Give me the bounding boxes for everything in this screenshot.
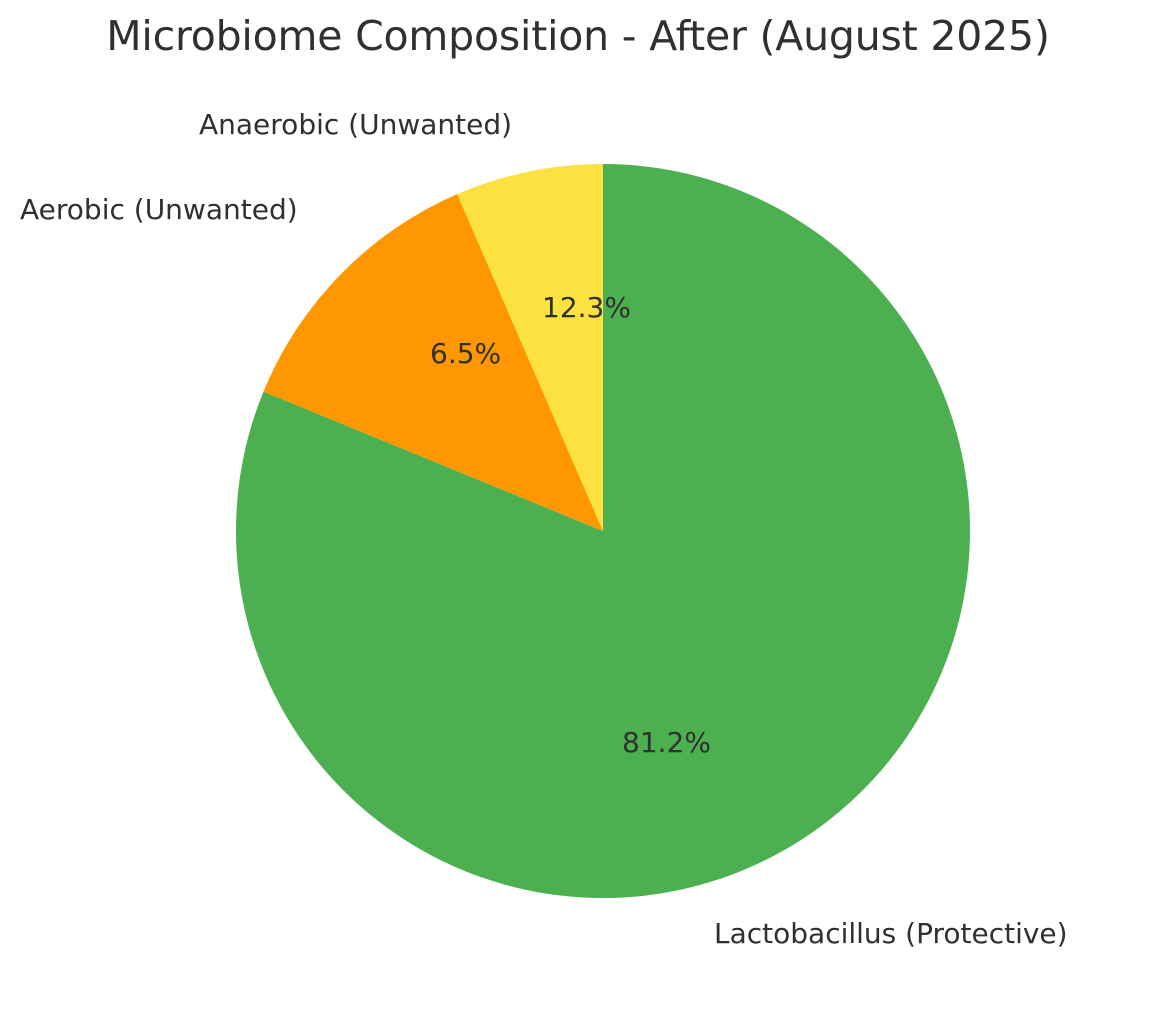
slice-label-aerobic: Aerobic (Unwanted): [20, 193, 298, 226]
slice-percent-lactobacillus: 81.2%: [622, 726, 711, 759]
slice-percent-anaerobic: 12.3%: [542, 291, 631, 324]
chart-canvas: Microbiome Composition - After (August 2…: [0, 0, 1156, 1014]
slice-label-lactobacillus: Lactobacillus (Protective): [714, 917, 1068, 950]
pie-chart-svg: [0, 0, 1156, 1014]
slice-label-anaerobic: Anaerobic (Unwanted): [199, 108, 512, 141]
pie-slices-group: [236, 164, 970, 898]
slice-percent-aerobic: 6.5%: [430, 337, 501, 370]
